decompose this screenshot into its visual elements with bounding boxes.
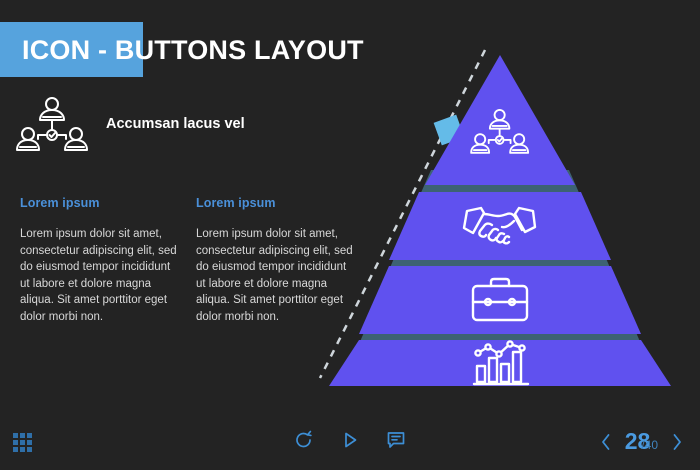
- playback-controls: [0, 430, 700, 450]
- replay-icon[interactable]: [294, 430, 314, 450]
- next-slide-icon[interactable]: [670, 431, 684, 453]
- column-heading: Lorem ipsum: [20, 196, 180, 210]
- previous-slide-icon[interactable]: [599, 431, 613, 453]
- pyramid-level-2[interactable]: [389, 192, 611, 260]
- subtitle: Accumsan lacus vel: [106, 116, 245, 132]
- team-icon: [16, 95, 88, 157]
- play-icon[interactable]: [340, 430, 360, 450]
- pagination: 28 /40: [599, 428, 684, 455]
- page-indicator: 28 /40: [625, 428, 658, 455]
- column-body: Lorem ipsum dolor sit amet, consectetur …: [20, 226, 180, 325]
- slide-canvas: ICON - BUTTONS LAYOUT Accumsan lacus vel: [0, 0, 700, 470]
- total-page-count: /40: [641, 438, 658, 452]
- comment-icon[interactable]: [386, 430, 406, 450]
- pyramid-level-3[interactable]: [359, 266, 641, 334]
- text-column-1: Lorem ipsum Lorem ipsum dolor sit amet, …: [20, 196, 180, 325]
- bottom-toolbar: 28 /40: [0, 418, 700, 470]
- pyramid-diagram: [300, 30, 700, 405]
- pyramid-level-4[interactable]: [329, 340, 671, 386]
